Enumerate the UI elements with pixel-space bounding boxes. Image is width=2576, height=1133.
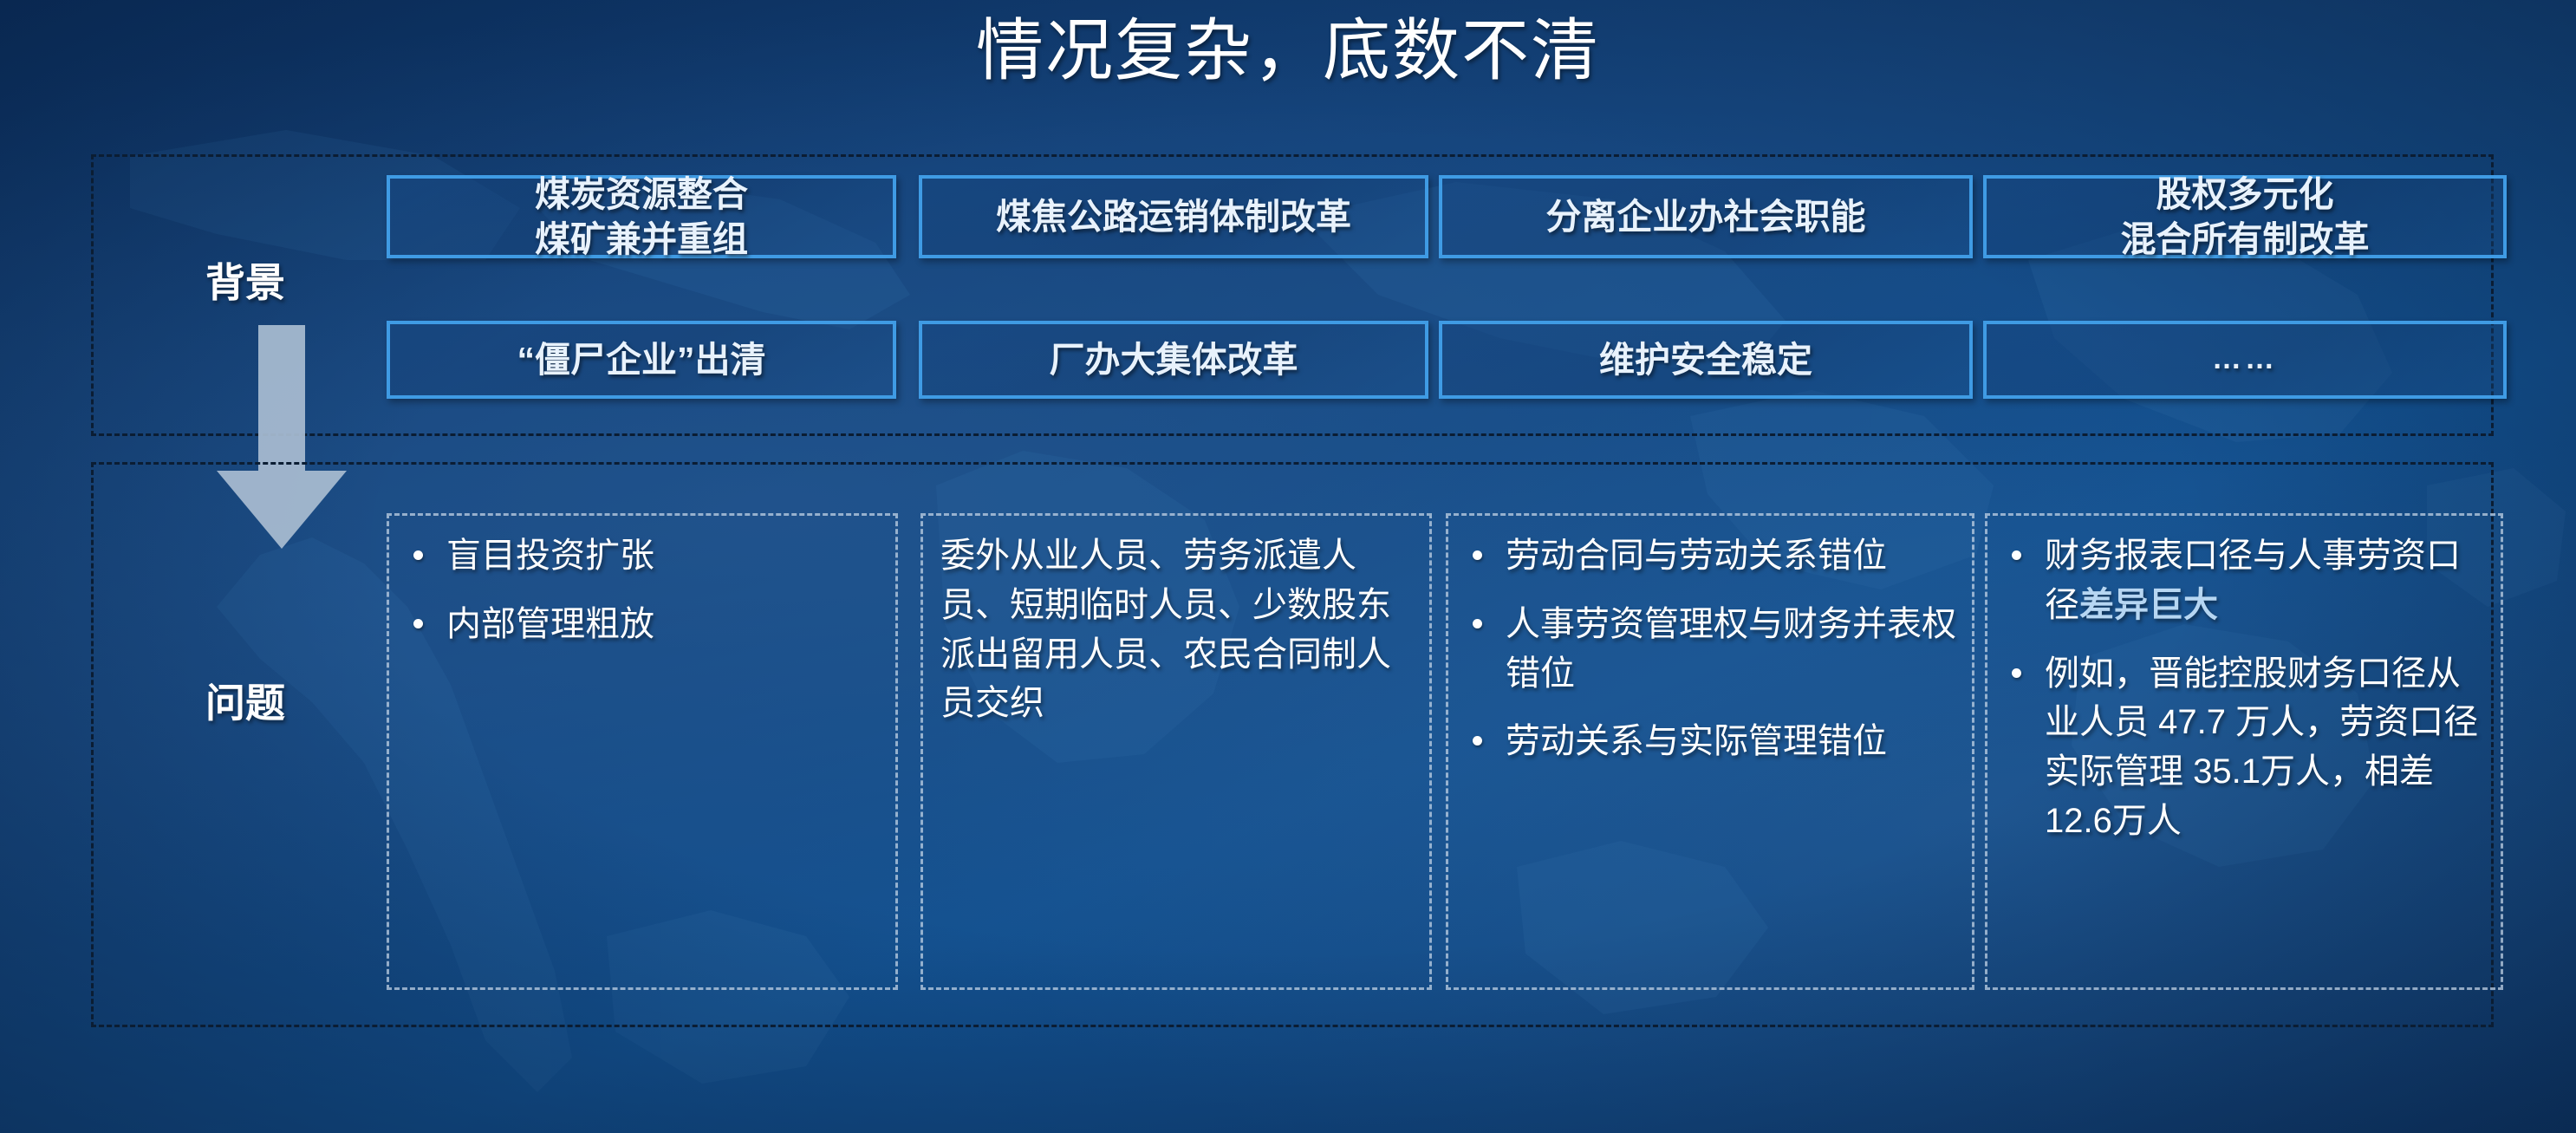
problem-column-1-paragraph: 委外从业人员、劳务派遣人员、短期临时人员、少数股东派出留用人员、农民合同制人员交… [932, 531, 1417, 728]
background-section-label: 背景 [205, 251, 285, 309]
problem-column-2: 劳动合同与劳动关系错位 人事劳资管理权与财务并表权错位 劳动关系与实际管理错位 [1446, 513, 1974, 990]
problem-column-3: 财务报表口径与人事劳资口径差异巨大 例如，晋能控股财务口径从业人员 47.7 万… [1985, 513, 2503, 990]
problem-column-3-list: 财务报表口径与人事劳资口径差异巨大 例如，晋能控股财务口径从业人员 47.7 万… [1996, 531, 2488, 846]
slide-canvas: 情况复杂，底数不清 背景 煤炭资源整合 煤矿兼并重组 煤焦公路运销体制改革 分离… [0, 0, 2576, 1133]
background-item-3-line2: 混合所有制改革 [2121, 217, 2370, 262]
background-item-2[interactable]: 分离企业办社会职能 [1439, 175, 1973, 258]
problem-section-label: 问题 [205, 672, 285, 729]
list-item: 内部管理粗放 [398, 600, 883, 649]
background-item-1[interactable]: 煤焦公路运销体制改革 [919, 175, 1428, 258]
list-item: 例如，晋能控股财务口径从业人员 47.7 万人，劳资口径实际管理 35.1万人，… [1996, 649, 2488, 846]
problem-column-1: 委外从业人员、劳务派遣人员、短期临时人员、少数股东派出留用人员、农民合同制人员交… [920, 513, 1432, 990]
background-item-7-line1: …… [2212, 341, 2278, 379]
background-item-4-line1: “僵尸企业”出清 [517, 337, 766, 382]
background-item-5[interactable]: 厂办大集体改革 [919, 321, 1428, 399]
list-item: 劳动关系与实际管理错位 [1457, 717, 1960, 766]
problem-column-2-list: 劳动合同与劳动关系错位 人事劳资管理权与财务并表权错位 劳动关系与实际管理错位 [1457, 531, 1960, 766]
background-item-1-line1: 煤焦公路运销体制改革 [996, 194, 1351, 239]
background-item-3[interactable]: 股权多元化 混合所有制改革 [1983, 175, 2507, 258]
list-item: 人事劳资管理权与财务并表权错位 [1457, 600, 1960, 699]
background-item-4[interactable]: “僵尸企业”出清 [387, 321, 896, 399]
background-item-6[interactable]: 维护安全稳定 [1439, 321, 1973, 399]
list-item: 财务报表口径与人事劳资口径差异巨大 [1996, 531, 2488, 630]
problem-column-0-list: 盲目投资扩张 内部管理粗放 [398, 531, 883, 649]
background-item-6-line1: 维护安全稳定 [1599, 337, 1812, 382]
background-item-3-line1: 股权多元化 [2121, 172, 2370, 217]
background-item-0[interactable]: 煤炭资源整合 煤矿兼并重组 [387, 175, 896, 258]
background-item-0-line1: 煤炭资源整合 [535, 172, 748, 217]
list-item: 劳动合同与劳动关系错位 [1457, 531, 1960, 581]
problem-column-0: 盲目投资扩张 内部管理粗放 [387, 513, 898, 990]
list-item-text: 例如，晋能控股财务口径从业人员 47.7 万人，劳资口径实际管理 35.1万人，… [2045, 654, 2478, 840]
list-item: 盲目投资扩张 [398, 531, 883, 581]
background-item-0-line2: 煤矿兼并重组 [535, 217, 748, 262]
background-item-5-line1: 厂办大集体改革 [1050, 337, 1298, 382]
list-item-highlight: 差异巨大 [2079, 586, 2218, 624]
page-title: 情况复杂，底数不清 [0, 12, 2576, 90]
background-item-2-line1: 分离企业办社会职能 [1546, 194, 1866, 239]
background-item-7[interactable]: …… [1983, 321, 2507, 399]
